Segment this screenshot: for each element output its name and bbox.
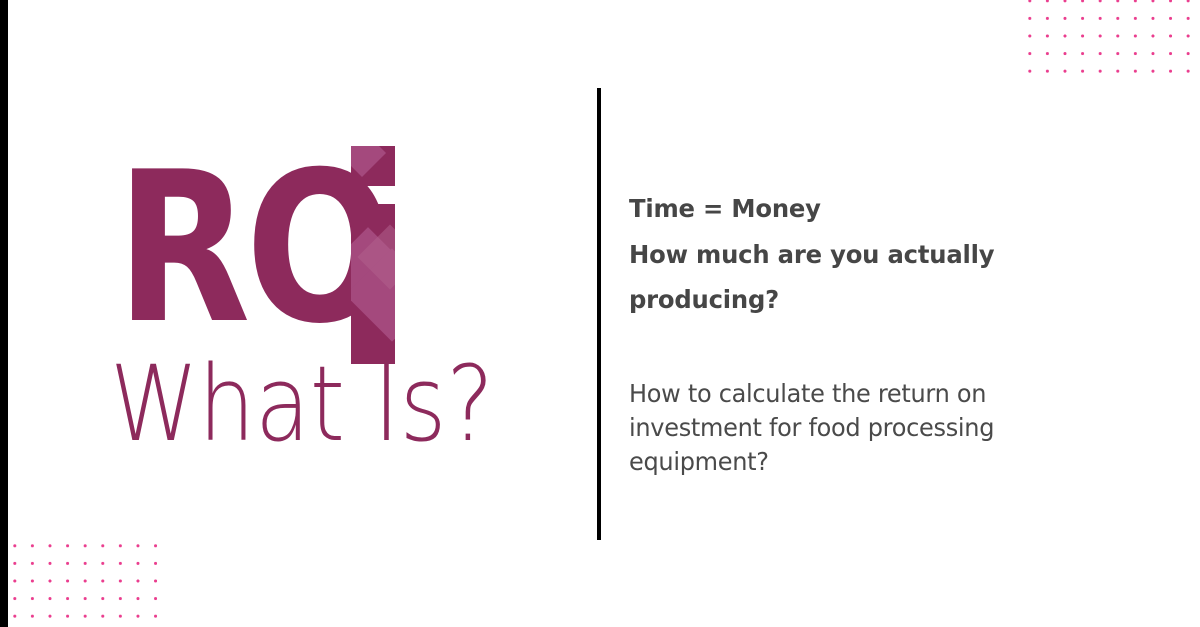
dot-grid-top-right-icon	[1020, 0, 1200, 83]
roi-logo-block: RO What Is?	[110, 140, 530, 470]
dot-grid-bottom-left-icon	[5, 536, 170, 627]
body-line-1: How to calculate the return on	[629, 379, 986, 408]
left-edge-bar	[0, 0, 8, 627]
content-column: Time = Money How much are you actually p…	[629, 186, 1099, 479]
headline-line-3: producing?	[629, 285, 779, 314]
headline-line-1: Time = Money	[629, 194, 821, 223]
headline-line-2: How much are you actually	[629, 240, 994, 269]
roi-i-glyph-icon	[351, 146, 395, 364]
vertical-divider	[597, 88, 601, 540]
headline-text: Time = Money How much are you actually p…	[629, 186, 1085, 323]
roi-wordmark: RO	[116, 168, 389, 330]
roi-subtitle: What Is?	[110, 352, 494, 456]
i-dot-shape	[351, 146, 395, 186]
body-line-3: equipment?	[629, 447, 769, 476]
body-line-2: investment for food processing	[629, 413, 994, 442]
slide-canvas: RO What Is? Time = Money How much are yo…	[0, 0, 1200, 627]
i-stem-shape	[351, 204, 395, 364]
body-text: How to calculate the return on investmen…	[629, 323, 1080, 479]
